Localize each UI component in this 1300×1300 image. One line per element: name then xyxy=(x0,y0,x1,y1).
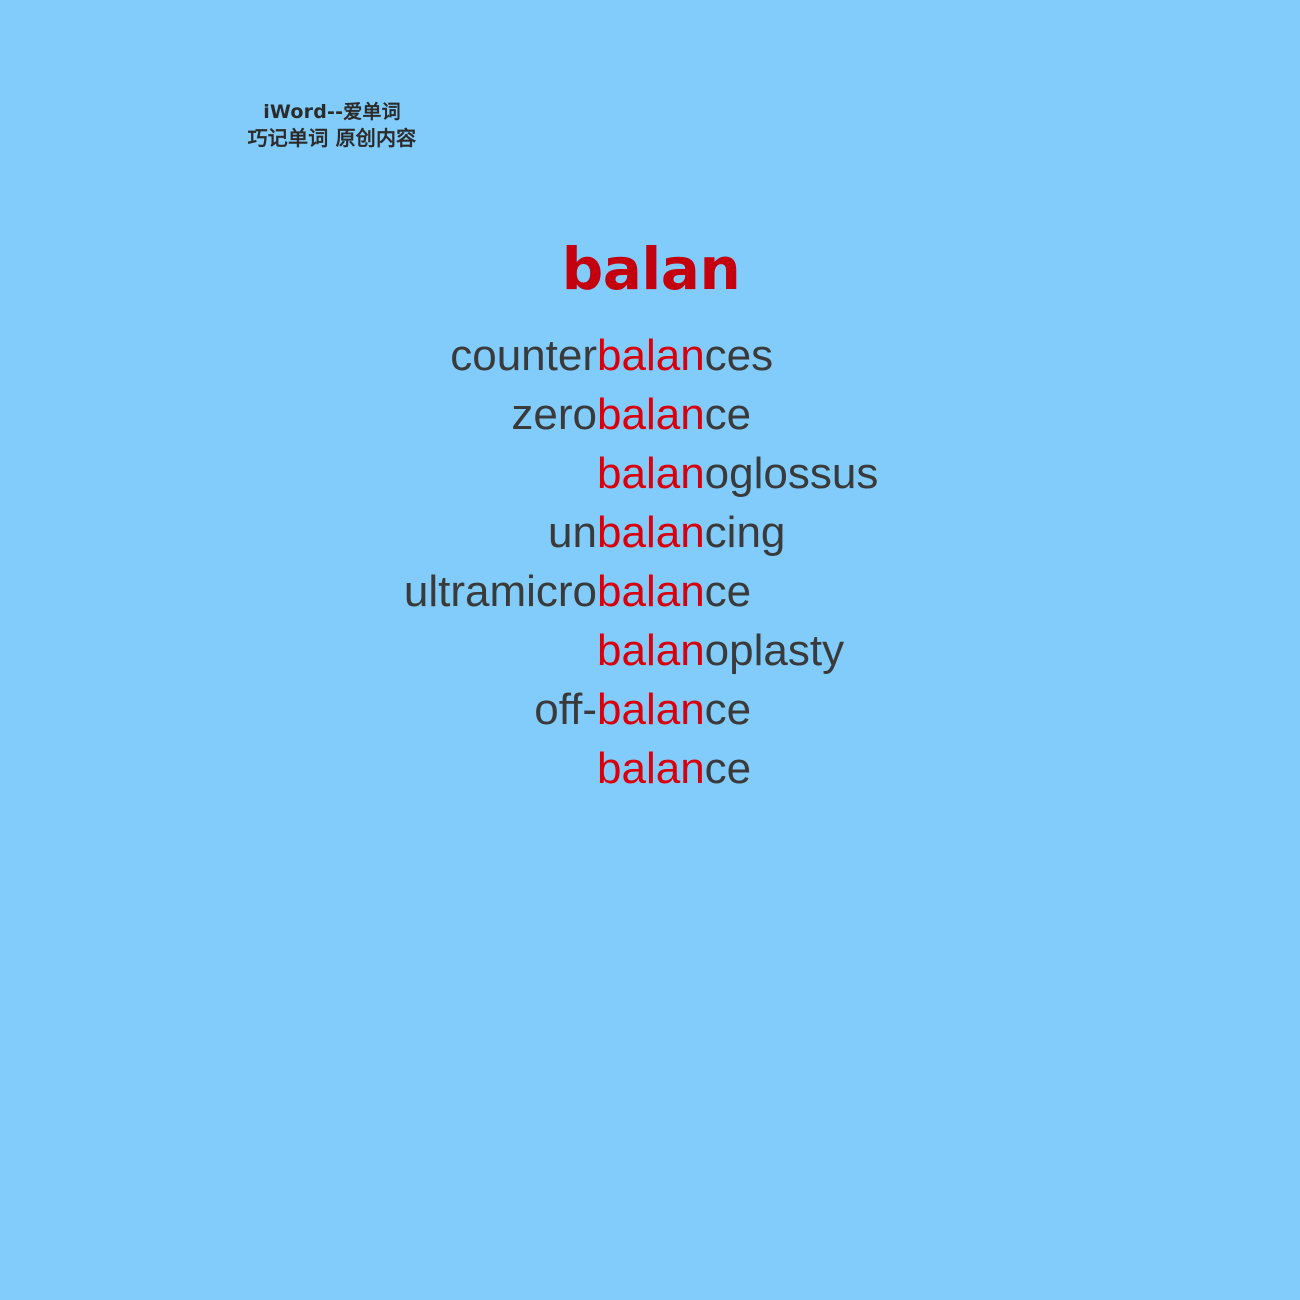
watermark-line-2: 巧记单词 原创内容 xyxy=(232,125,432,151)
word-suffix: ce xyxy=(705,390,751,439)
word-suffix: ce xyxy=(705,567,751,616)
word-root-highlight: balan xyxy=(597,567,705,616)
word-prefix: zero xyxy=(511,385,597,444)
word-stem: balancing xyxy=(597,503,785,562)
word-root-highlight: balan xyxy=(597,626,705,675)
word-prefix: off- xyxy=(534,680,597,739)
word-suffix: ce xyxy=(705,744,751,793)
word-row: counterbalances xyxy=(0,326,1300,385)
word-suffix: ces xyxy=(705,331,773,380)
word-root-highlight: balan xyxy=(597,390,705,439)
word-root-highlight: balan xyxy=(597,331,705,380)
word-row: balanoglossus xyxy=(0,444,1300,503)
word-prefix: ultramicro xyxy=(404,562,597,621)
word-row: zerobalance xyxy=(0,385,1300,444)
word-stem: balances xyxy=(597,326,773,385)
derived-word-list: counterbalanceszerobalancebalanoglossusu… xyxy=(0,326,1300,798)
word-row: ultramicrobalance xyxy=(0,562,1300,621)
root-title: balan xyxy=(0,240,1300,298)
watermark: iWord--爱单词 巧记单词 原创内容 xyxy=(232,100,432,151)
word-root-highlight: balan xyxy=(597,508,705,557)
word-suffix: oplasty xyxy=(705,626,844,675)
word-row: balanoplasty xyxy=(0,621,1300,680)
word-prefix: un xyxy=(548,503,597,562)
word-stem: balanoplasty xyxy=(597,621,844,680)
word-stem: balance xyxy=(597,680,751,739)
watermark-line-1: iWord--爱单词 xyxy=(232,100,432,125)
word-stem: balance xyxy=(597,562,751,621)
word-root-highlight: balan xyxy=(597,744,705,793)
word-suffix: oglossus xyxy=(705,449,879,498)
word-stem: balanoglossus xyxy=(597,444,878,503)
word-suffix: ce xyxy=(705,685,751,734)
word-row: unbalancing xyxy=(0,503,1300,562)
word-stem: balance xyxy=(597,739,751,798)
word-stem: balance xyxy=(597,385,751,444)
root-title-text: balan xyxy=(562,240,740,298)
word-suffix: cing xyxy=(705,508,786,557)
word-root-highlight: balan xyxy=(597,685,705,734)
word-row: balance xyxy=(0,739,1300,798)
word-root-highlight: balan xyxy=(597,449,705,498)
word-prefix: counter xyxy=(450,326,597,385)
word-row: off-balance xyxy=(0,680,1300,739)
